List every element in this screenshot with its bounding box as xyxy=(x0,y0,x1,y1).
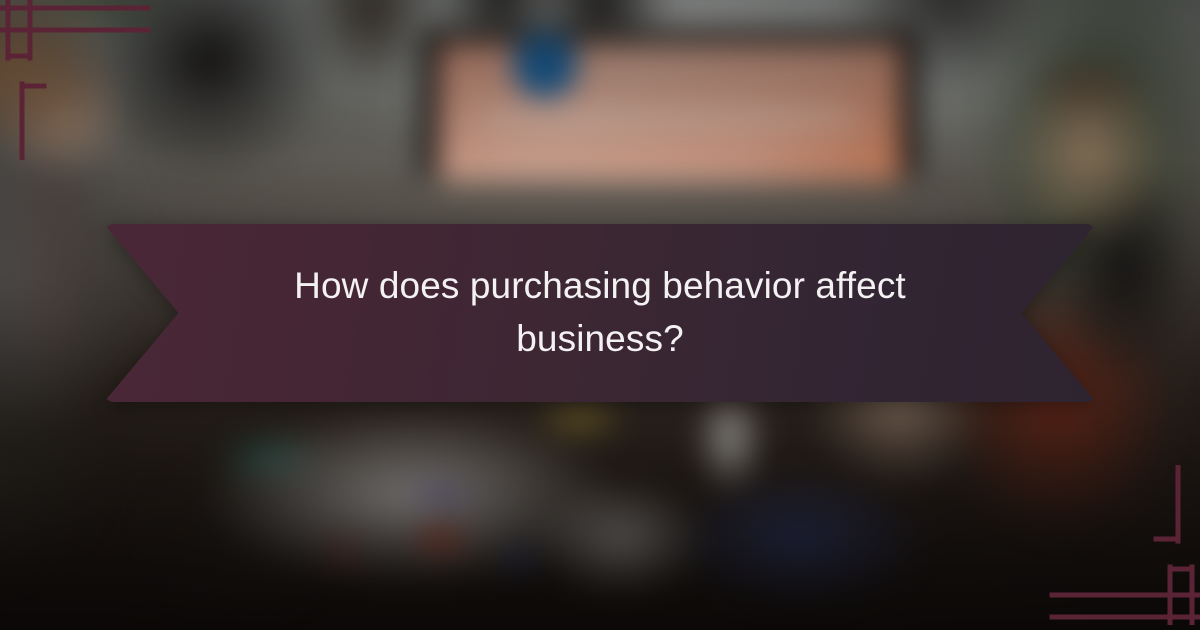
heading-line-1: How does purchasing behavior affect xyxy=(294,260,906,313)
banner-canvas: How does purchasing behavior affect busi… xyxy=(0,0,1200,630)
heading-line-2: business? xyxy=(516,313,684,366)
ribbon-text-block: How does purchasing behavior affect busi… xyxy=(104,224,1096,402)
title-ribbon: How does purchasing behavior affect busi… xyxy=(104,224,1096,402)
